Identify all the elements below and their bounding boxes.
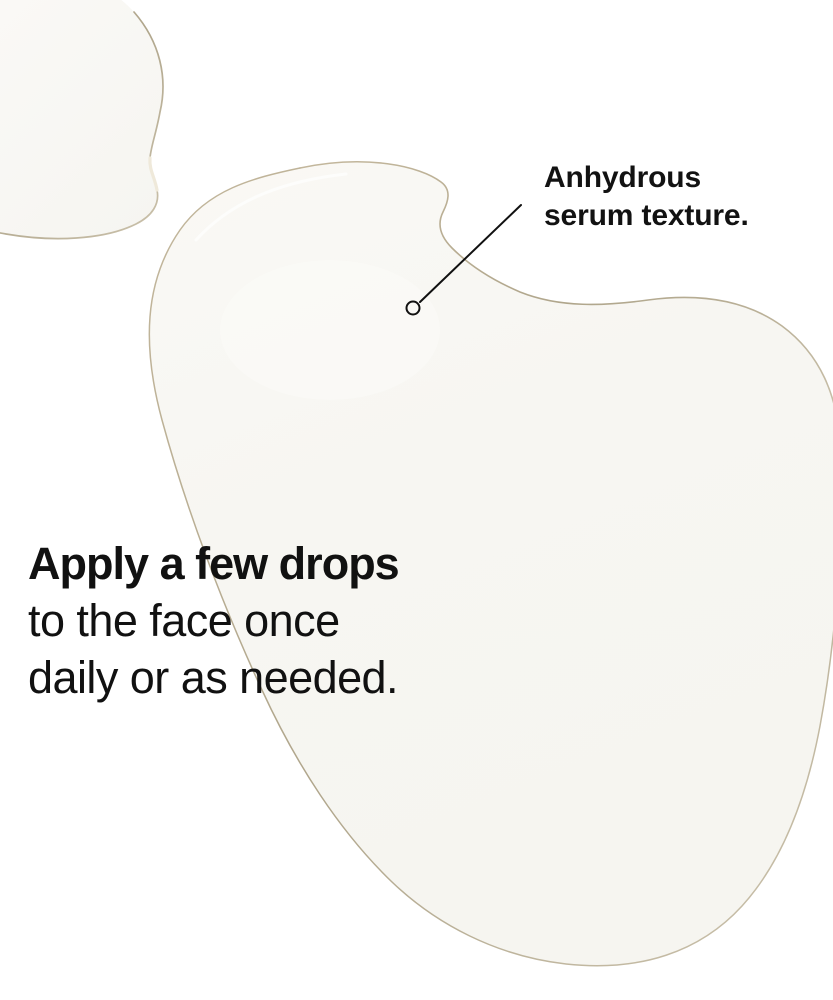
serum-blob-top-left	[0, 0, 163, 239]
callout-label: Anhydrous serum texture.	[544, 159, 833, 235]
headline-line-1: Apply a few drops	[28, 535, 628, 592]
product-instruction-card: Anhydrous serum texture. Apply a few dro…	[0, 0, 833, 1000]
circle-node-icon	[407, 302, 420, 315]
headline-block: Apply a few drops to the face once daily…	[28, 535, 628, 706]
callout-leader-group	[0, 0, 833, 1000]
headline-line-3: daily or as needed.	[28, 649, 628, 706]
serum-artwork	[0, 0, 833, 1000]
headline-line-2: to the face once	[28, 592, 628, 649]
leader-line	[420, 205, 521, 302]
